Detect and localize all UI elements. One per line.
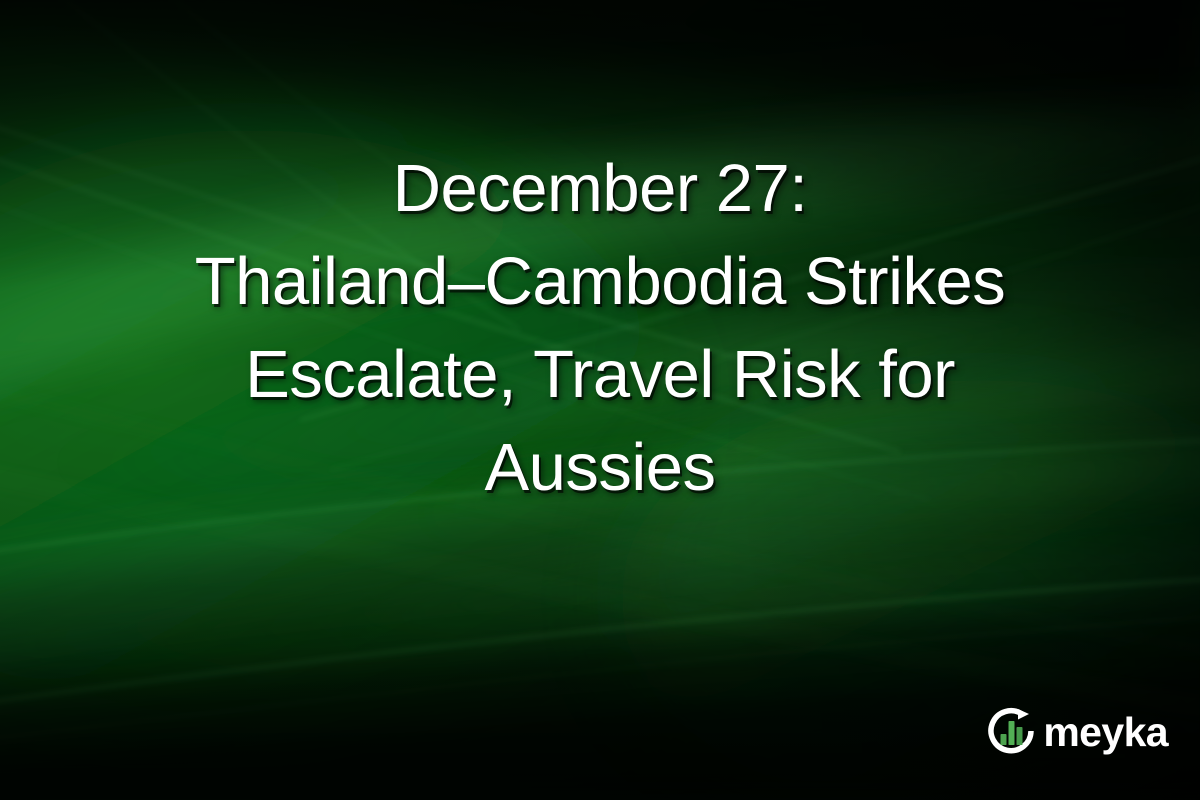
logo-bar-2 bbox=[1009, 721, 1015, 745]
meyka-circle-bars-logo bbox=[986, 706, 1036, 756]
logo-bar-1 bbox=[1001, 734, 1007, 745]
headline-line-1: December 27: bbox=[40, 142, 1160, 235]
social-card: December 27: Thailand–Cambodia Strikes E… bbox=[0, 0, 1200, 800]
brand-wordmark: meyka bbox=[1043, 712, 1168, 753]
headline-line-2: Thailand–Cambodia Strikes bbox=[40, 235, 1160, 328]
headline-line-3: Escalate, Travel Risk for bbox=[40, 328, 1160, 421]
headline: December 27: Thailand–Cambodia Strikes E… bbox=[0, 142, 1200, 514]
logo-bar-3 bbox=[1017, 727, 1023, 745]
headline-line-4: Aussies bbox=[40, 421, 1160, 514]
brand-logo[interactable]: meyka bbox=[986, 706, 1168, 756]
